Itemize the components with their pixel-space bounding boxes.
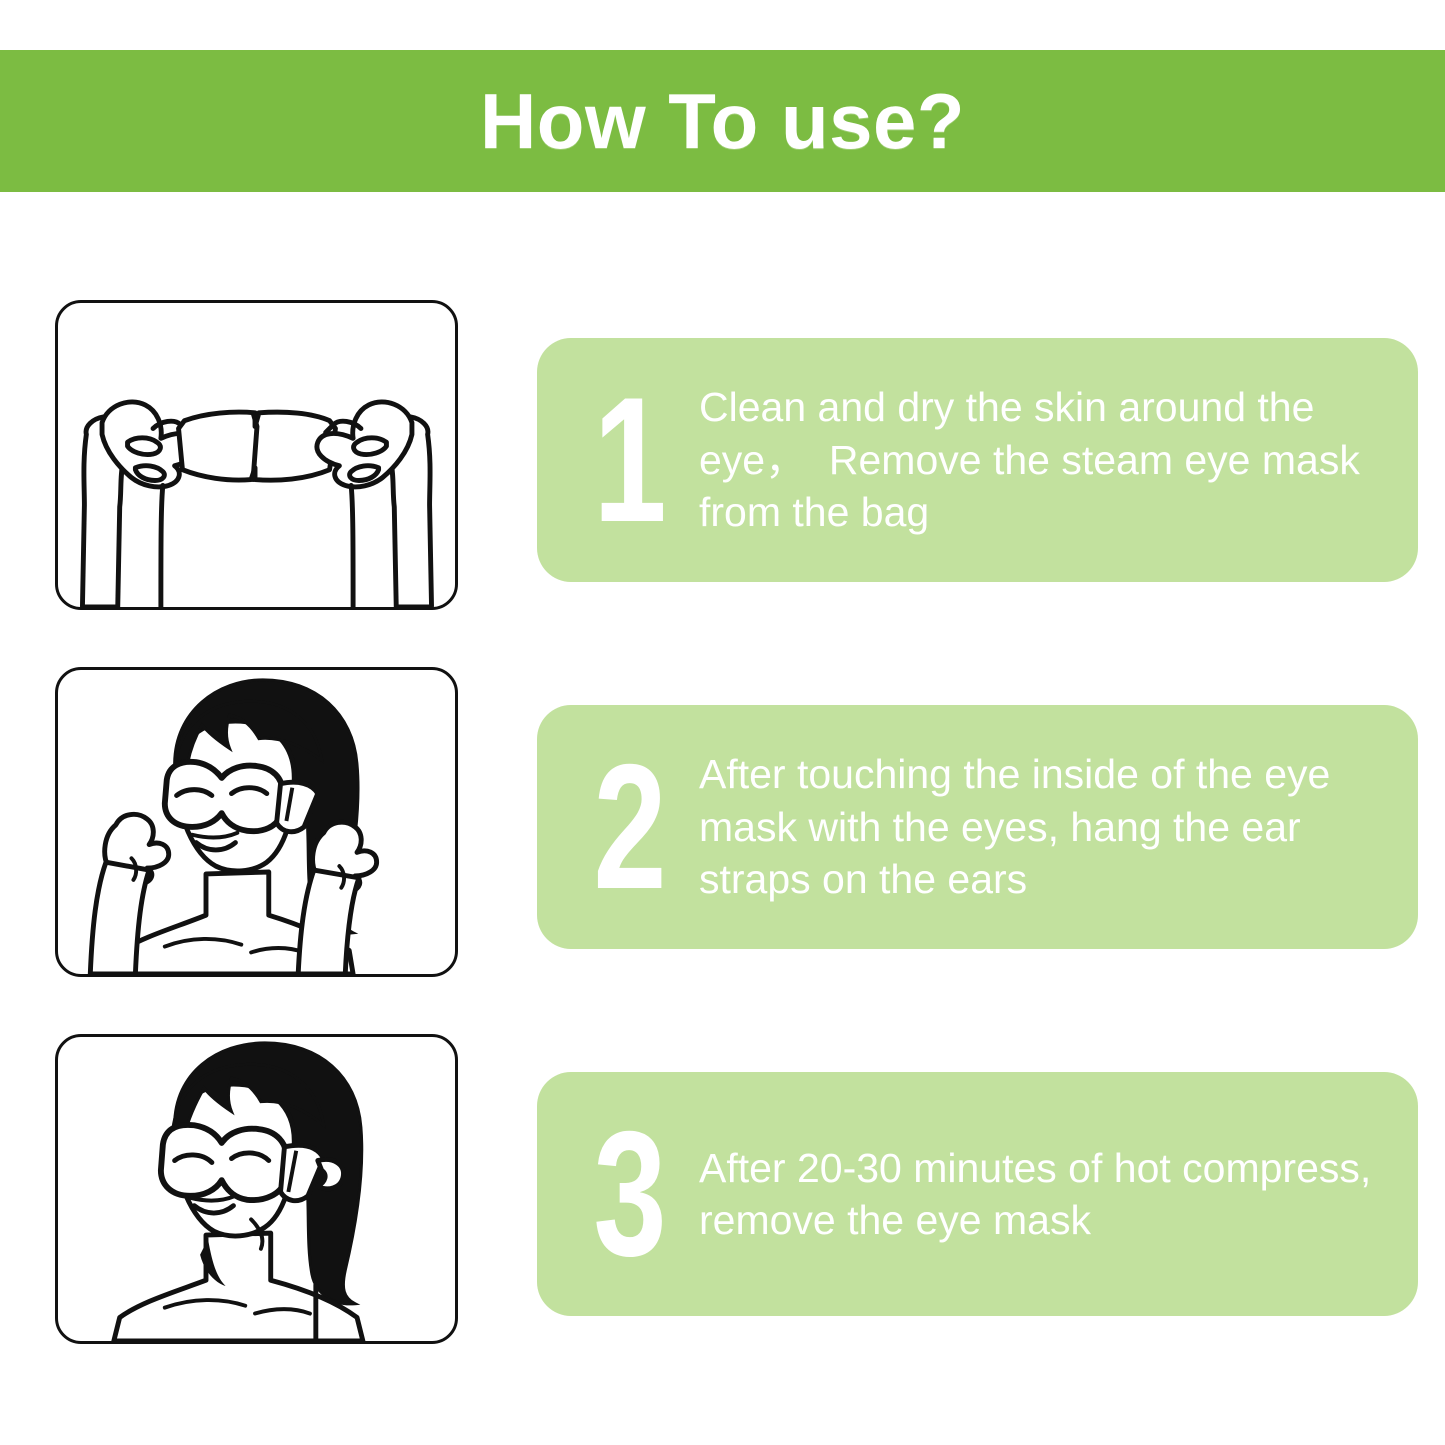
illustration-hands-holding-mask (55, 300, 458, 610)
step-text: After touching the inside of the eye mas… (699, 748, 1418, 905)
step-row: 2 After touching the inside of the eye m… (0, 655, 1445, 1025)
woman-wearing-mask-icon (58, 1037, 455, 1341)
steps-container: 1 Clean and dry the skin around the eye，… (0, 192, 1445, 1445)
woman-putting-on-mask-icon (58, 670, 455, 974)
step-card: 2 After touching the inside of the eye m… (537, 705, 1418, 949)
step-number: 1 (582, 387, 678, 533)
illustration-woman-putting-on-mask (55, 667, 458, 977)
step-card: 1 Clean and dry the skin around the eye，… (537, 338, 1418, 582)
step-number: 3 (582, 1121, 678, 1267)
page-title: How To use? (480, 82, 965, 160)
illustration-woman-wearing-mask (55, 1034, 458, 1344)
step-row: 1 Clean and dry the skin around the eye，… (0, 288, 1445, 658)
hands-holding-mask-icon (58, 303, 455, 607)
step-number: 2 (582, 754, 678, 900)
step-row: 3 After 20-30 minutes of hot compress, r… (0, 1022, 1445, 1392)
step-text: Clean and dry the skin around the eye， R… (699, 381, 1418, 538)
step-card: 3 After 20-30 minutes of hot compress, r… (537, 1072, 1418, 1316)
header-banner: How To use? (0, 50, 1445, 192)
step-text: After 20-30 minutes of hot compress, rem… (699, 1142, 1418, 1247)
